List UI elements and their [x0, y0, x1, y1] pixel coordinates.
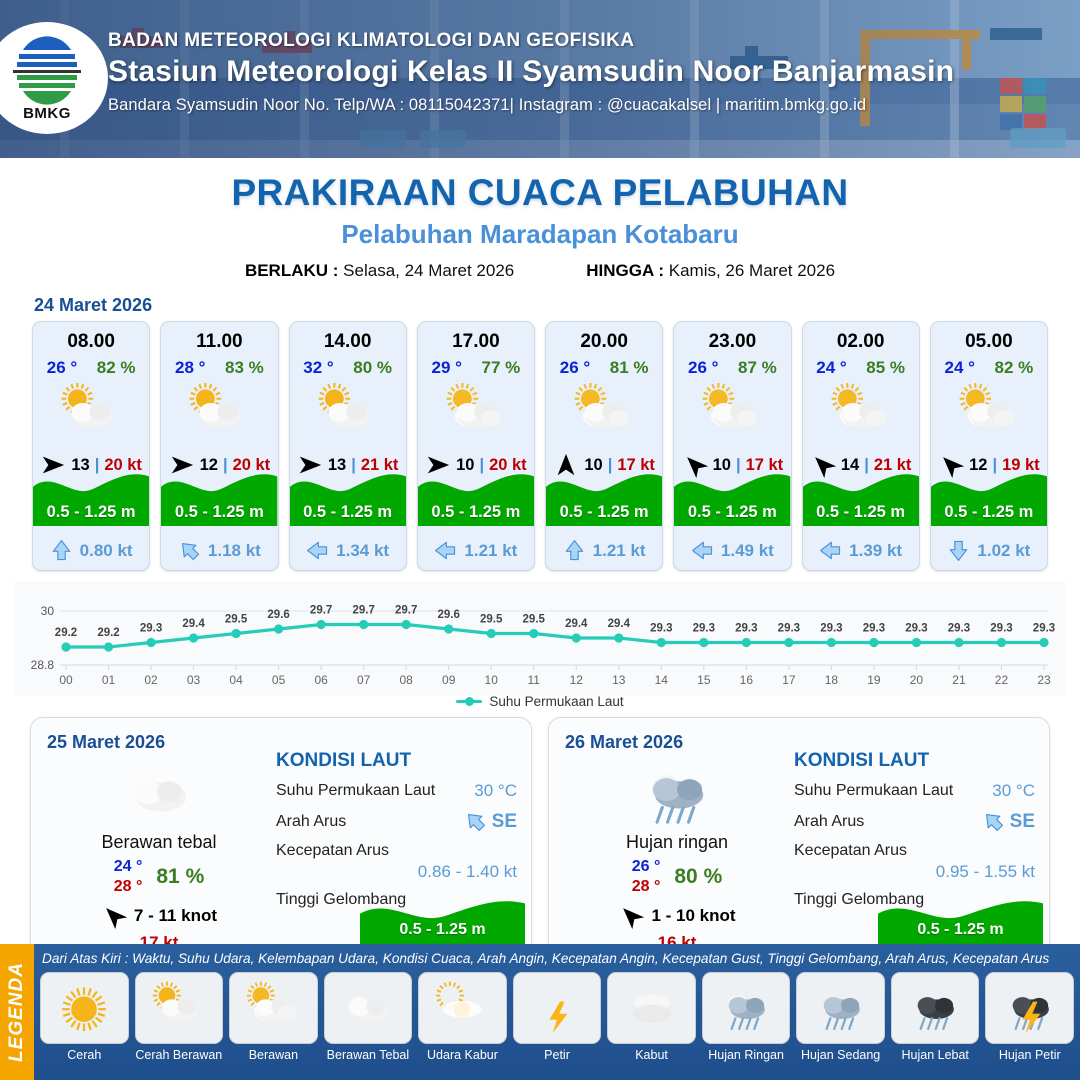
card-temperature: 26 °	[688, 358, 718, 378]
hourly-date-label: 24 Maret 2026	[34, 295, 1080, 316]
page-title: PRAKIRAAN CUACA PELABUHAN	[0, 172, 1080, 214]
sst-point-label: 29.3	[778, 623, 800, 635]
x-tick-label: 00	[59, 673, 73, 687]
x-tick-label: 05	[272, 673, 286, 687]
berawan-icon	[826, 380, 896, 447]
sst-point	[827, 638, 836, 647]
card-temperature: 24 °	[816, 358, 846, 378]
card-humidity: 81 %	[610, 358, 649, 378]
x-tick-label: 17	[782, 673, 796, 687]
card-wave-height: 0.5 - 1.25 m	[931, 503, 1047, 522]
cerah-berawan-icon	[184, 380, 254, 447]
legend-item-label: Udara Kabur	[427, 1048, 498, 1062]
legend-item-label: Cerah	[67, 1048, 101, 1062]
card-weather-icon	[161, 382, 277, 444]
hujan-ringan-icon	[715, 979, 777, 1038]
sst-chart-svg: 3028.829.229.229.329.429.529.629.729.729…	[14, 581, 1066, 691]
legend-item-label: Hujan Sedang	[801, 1048, 880, 1062]
current-direction-arrow-SE-icon	[178, 539, 201, 562]
current-direction-arrow-N-icon	[947, 539, 970, 562]
card-current: 1.34 kt	[290, 539, 406, 562]
card-current-speed: 1.49 kt	[721, 541, 774, 561]
panel-current-dir-label: Arah Arus	[794, 813, 864, 831]
panel-sea-title: KONDISI LAUT	[276, 750, 517, 772]
petir-icon	[526, 979, 588, 1038]
card-temp-humidity: 26 ° 82 %	[33, 358, 149, 378]
x-tick-label: 20	[910, 673, 924, 687]
current-direction-arrow-E-icon	[306, 539, 329, 562]
valid-from: BERLAKU : Selasa, 24 Maret 2026	[245, 261, 514, 281]
hujan-lebat-icon	[904, 979, 966, 1038]
x-tick-label: 09	[442, 673, 456, 687]
berawan-tebal-icon	[116, 753, 202, 835]
x-tick-label: 14	[655, 673, 669, 687]
card-time: 05.00	[931, 331, 1047, 353]
legend-item-icon-box	[985, 972, 1074, 1044]
x-tick-label: 13	[612, 673, 626, 687]
legend-item: Udara Kabur	[418, 972, 507, 1062]
card-time: 23.00	[674, 331, 790, 353]
sst-point-label: 29.5	[523, 614, 546, 626]
sst-point-label: 29.3	[735, 623, 757, 635]
card-humidity: 85 %	[866, 358, 905, 378]
card-humidity: 82 %	[97, 358, 136, 378]
x-tick-label: 18	[825, 673, 839, 687]
panel-condition: Hujan ringan	[567, 832, 787, 853]
chart-legend-label: Suhu Permukaan Laut	[489, 694, 623, 709]
legend-item-label: Hujan Lebat	[901, 1048, 968, 1062]
legend-item-icon-box	[40, 972, 129, 1044]
sst-point	[402, 620, 411, 629]
validity-row: BERLAKU : Selasa, 24 Maret 2026 HINGGA :…	[0, 261, 1080, 281]
card-weather-icon	[290, 382, 406, 444]
sst-point-label: 29.3	[650, 623, 672, 635]
valid-until-value: Kamis, 26 Maret 2026	[669, 261, 835, 280]
legend-item: Berawan Tebal	[324, 972, 413, 1062]
card-current: 1.21 kt	[546, 539, 662, 562]
card-temp-humidity: 26 ° 81 %	[546, 358, 662, 378]
panel-condition: Berawan tebal	[49, 832, 269, 853]
x-tick-label: 04	[229, 673, 243, 687]
legend-item: Hujan Sedang	[796, 972, 885, 1062]
card-current: 1.49 kt	[674, 539, 790, 562]
panel-current-speed-label: Kecepatan Arus	[276, 842, 389, 860]
legend-item-icon-box	[418, 972, 507, 1044]
card-wave-height: 0.5 - 1.25 m	[161, 503, 277, 522]
agency-name: BADAN METEOROLOGI KLIMATOLOGI DAN GEOFIS…	[108, 30, 954, 52]
cerah-icon	[53, 979, 115, 1038]
panel-temp-min: 24 °	[114, 857, 143, 877]
x-tick-label: 15	[697, 673, 711, 687]
sst-point	[572, 633, 581, 642]
cerah-berawan-icon	[313, 380, 383, 447]
card-wave-height: 0.5 - 1.25 m	[546, 503, 662, 522]
x-tick-label: 08	[399, 673, 413, 687]
current-direction-arrow-E-icon	[434, 539, 457, 562]
page-subtitle: Pelabuhan Maradapan Kotabaru	[0, 219, 1080, 250]
sst-point-label: 29.5	[225, 614, 248, 626]
card-current-speed: 0.80 kt	[80, 541, 133, 561]
card-current-speed: 1.18 kt	[208, 541, 261, 561]
card-temp-humidity: 29 ° 77 %	[418, 358, 534, 378]
panel-wind: 7 - 11 knot	[49, 903, 269, 929]
sst-point-label: 29.2	[55, 627, 77, 639]
panel-current-dir-value: SE	[464, 810, 517, 833]
sst-point-label: 29.3	[990, 623, 1012, 635]
panel-temp-max: 28 °	[632, 877, 661, 897]
legend-note: Dari Atas Kiri : Waktu, Suhu Udara, Kele…	[42, 951, 1072, 966]
legend-item: Hujan Petir	[985, 972, 1074, 1062]
daily-panel[interactable]: 25 Maret 2026 Berawan tebal 24 ° 28 ° 81…	[30, 717, 532, 962]
x-tick-label: 12	[570, 673, 584, 687]
sst-point	[997, 638, 1006, 647]
berawan-icon	[242, 979, 304, 1038]
card-temperature: 26 °	[560, 358, 590, 378]
valid-until-label: HINGGA :	[586, 261, 664, 280]
sst-point	[869, 638, 878, 647]
sst-point-label: 29.3	[693, 623, 715, 635]
legend-item-icon-box	[229, 972, 318, 1044]
current-direction-arrow-S-icon	[563, 539, 586, 562]
legend-item-label: Hujan Petir	[999, 1048, 1061, 1062]
card-temp-humidity: 28 ° 83 %	[161, 358, 277, 378]
legend-items: Cerah Cerah Berawan Berawan Berawan Teba…	[40, 972, 1074, 1062]
card-temp-humidity: 32 ° 80 %	[290, 358, 406, 378]
panel-wave-value: 0.5 - 1.25 m	[360, 921, 525, 939]
panel-sst-row: Suhu Permukaan Laut 30 °C	[276, 781, 517, 801]
card-temp-humidity: 24 ° 85 %	[803, 358, 919, 378]
panel-weather-icon	[49, 758, 269, 830]
card-weather-icon	[546, 382, 662, 444]
legend-item: Hujan Ringan	[702, 972, 791, 1062]
berawan-icon	[954, 380, 1024, 447]
hourly-forecast-row: 08.00 26 ° 82 % 13 | 20 kt 0.5 - 1.25 m …	[0, 321, 1080, 571]
legend-item: Kabut	[607, 972, 696, 1062]
sst-point-label: 29.7	[310, 605, 332, 617]
panel-temp-max: 28 °	[114, 877, 143, 897]
valid-from-label: BERLAKU :	[245, 261, 339, 280]
hourly-card[interactable]: 23.00 26 ° 87 % 10 | 17 kt 0.5 - 1.25 m …	[673, 321, 791, 571]
card-time: 20.00	[546, 331, 662, 353]
legend-item-label: Kabut	[635, 1048, 668, 1062]
daily-forecast-row: 25 Maret 2026 Berawan tebal 24 ° 28 ° 81…	[0, 709, 1080, 962]
card-humidity: 80 %	[353, 358, 392, 378]
legend-item: Hujan Lebat	[891, 972, 980, 1062]
sst-point	[614, 633, 623, 642]
panel-sst-row: Suhu Permukaan Laut 30 °C	[794, 781, 1035, 801]
berawan-icon	[569, 380, 639, 447]
panel-left: Hujan ringan 26 ° 28 ° 80 % 1 - 10 knot …	[567, 758, 787, 953]
x-tick-label: 01	[102, 673, 116, 687]
card-current: 1.02 kt	[931, 539, 1047, 562]
current-direction-arrow-S-icon	[50, 539, 73, 562]
panel-current-dir-label: Arah Arus	[276, 813, 346, 831]
legend-item-label: Berawan Tebal	[327, 1048, 409, 1062]
sst-point	[657, 638, 666, 647]
card-humidity: 82 %	[994, 358, 1033, 378]
legend-item-icon-box	[702, 972, 791, 1044]
card-temperature: 29 °	[432, 358, 462, 378]
kabut-icon	[621, 979, 683, 1038]
x-tick-label: 19	[867, 673, 881, 687]
legend-bar: LEGENDA Dari Atas Kiri : Waktu, Suhu Uda…	[0, 944, 1080, 1080]
legend-item: Berawan	[229, 972, 318, 1062]
sst-point-label: 29.2	[97, 627, 119, 639]
cerah-berawan-icon	[56, 380, 126, 447]
card-wave-height: 0.5 - 1.25 m	[290, 503, 406, 522]
x-tick-label: 11	[528, 673, 541, 687]
panel-current-speed-row: Kecepatan Arus	[276, 842, 517, 860]
panel-current-dir-text: SE	[1010, 811, 1035, 833]
hourly-card[interactable]: 17.00 29 ° 77 % 10 | 20 kt 0.5 - 1.25 m …	[417, 321, 535, 571]
infographic-root: BMKG BADAN METEOROLOGI KLIMATOLOGI DAN G…	[0, 0, 1080, 1080]
legend-item: Petir	[513, 972, 602, 1062]
panel-wind-range: 7 - 11 knot	[134, 906, 217, 926]
card-humidity: 87 %	[738, 358, 777, 378]
header-text-block: BADAN METEOROLOGI KLIMATOLOGI DAN GEOFIS…	[108, 30, 954, 115]
card-humidity: 83 %	[225, 358, 264, 378]
panel-temperatures: 26 ° 28 ° 80 %	[567, 857, 787, 897]
card-humidity: 77 %	[481, 358, 520, 378]
sst-point-label: 29.6	[267, 609, 289, 621]
legend-item: Cerah Berawan	[135, 972, 224, 1062]
panel-sea-conditions: KONDISI LAUT Suhu Permukaan Laut 30 °C A…	[794, 750, 1035, 909]
current-direction-arrow-SE-icon	[982, 810, 1005, 833]
hourly-card[interactable]: 08.00 26 ° 82 % 13 | 20 kt 0.5 - 1.25 m …	[32, 321, 150, 571]
hujan-sedang-icon	[810, 979, 872, 1038]
legend-side-title-text: LEGENDA	[6, 962, 28, 1062]
panel-current-speed-row: Kecepatan Arus	[794, 842, 1035, 860]
panel-wind: 1 - 10 knot	[567, 903, 787, 929]
legend-item-icon-box	[324, 972, 413, 1044]
header-banner: BMKG BADAN METEOROLOGI KLIMATOLOGI DAN G…	[0, 0, 1080, 158]
legend-item-icon-box	[796, 972, 885, 1044]
cerah-berawan-icon	[148, 979, 210, 1038]
card-wave-height: 0.5 - 1.25 m	[803, 503, 919, 522]
sst-point-label: 29.4	[565, 618, 588, 630]
x-tick-label: 02	[144, 673, 158, 687]
panel-humidity: 80 %	[674, 865, 722, 889]
sst-point-label: 29.4	[608, 618, 631, 630]
card-wave-height: 0.5 - 1.25 m	[418, 503, 534, 522]
legend-item: Cerah	[40, 972, 129, 1062]
bmkg-logo-text: BMKG	[7, 105, 87, 122]
sst-chart: 3028.829.229.229.329.429.529.629.729.729…	[14, 581, 1066, 696]
sst-point-label: 29.3	[820, 623, 842, 635]
panel-humidity: 81 %	[156, 865, 204, 889]
panel-sst-value: 30 °C	[474, 781, 517, 801]
sst-point-label: 29.3	[1033, 623, 1055, 635]
x-tick-label: 21	[952, 673, 966, 687]
valid-until: HINGGA : Kamis, 26 Maret 2026	[586, 261, 835, 281]
berawan-icon	[441, 380, 511, 447]
panel-sst-label: Suhu Permukaan Laut	[276, 782, 435, 800]
sst-point	[189, 633, 198, 642]
sst-point-label: 29.7	[395, 605, 417, 617]
card-temperature: 32 °	[303, 358, 333, 378]
sst-point	[104, 642, 113, 651]
card-current: 1.21 kt	[418, 539, 534, 562]
panel-wave-value: 0.5 - 1.25 m	[878, 921, 1043, 939]
card-weather-icon	[931, 382, 1047, 444]
card-temp-humidity: 26 ° 87 %	[674, 358, 790, 378]
hourly-card[interactable]: 11.00 28 ° 83 % 12 | 20 kt 0.5 - 1.25 m …	[160, 321, 278, 571]
sst-point	[359, 620, 368, 629]
sst-point-label: 29.7	[352, 605, 374, 617]
valid-from-value: Selasa, 24 Maret 2026	[343, 261, 514, 280]
panel-current-speed-value: 0.95 - 1.55 kt	[794, 862, 1035, 882]
card-current-speed: 1.02 kt	[977, 541, 1030, 561]
hourly-card[interactable]: 02.00 24 ° 85 % 14 | 21 kt 0.5 - 1.25 m …	[802, 321, 920, 571]
chart-legend: Suhu Permukaan Laut	[0, 694, 1080, 709]
current-direction-arrow-SE-icon	[464, 810, 487, 833]
y-tick-min: 28.8	[31, 658, 55, 672]
sst-point	[487, 629, 496, 638]
card-current: 0.80 kt	[33, 539, 149, 562]
sst-point	[1039, 638, 1048, 647]
card-time: 17.00	[418, 331, 534, 353]
bmkg-emblem-icon	[7, 34, 87, 106]
card-wave-height: 0.5 - 1.25 m	[33, 503, 149, 522]
wind-direction-arrow-NW-icon	[618, 903, 644, 929]
panel-left: Berawan tebal 24 ° 28 ° 81 % 7 - 11 knot…	[49, 758, 269, 953]
legend-item-label: Petir	[544, 1048, 570, 1062]
card-current: 1.18 kt	[161, 539, 277, 562]
sst-point	[912, 638, 921, 647]
current-direction-arrow-E-icon	[691, 539, 714, 562]
udara-kabur-icon	[431, 979, 493, 1038]
card-current-speed: 1.34 kt	[336, 541, 389, 561]
hourly-card[interactable]: 20.00 26 ° 81 % 10 | 17 kt 0.5 - 1.25 m …	[545, 321, 663, 571]
x-tick-label: 23	[1037, 673, 1051, 687]
sst-point-label: 29.3	[948, 623, 970, 635]
card-time: 08.00	[33, 331, 149, 353]
card-weather-icon	[674, 382, 790, 444]
panel-sea-title: KONDISI LAUT	[794, 750, 1035, 772]
panel-temperatures: 24 ° 28 ° 81 %	[49, 857, 269, 897]
sst-point	[231, 629, 240, 638]
x-tick-label: 22	[995, 673, 1009, 687]
card-temperature: 26 °	[47, 358, 77, 378]
hujan-petir-icon	[999, 979, 1061, 1038]
card-time: 14.00	[290, 331, 406, 353]
sst-point-label: 29.4	[182, 618, 205, 630]
legend-item-label: Berawan	[249, 1048, 298, 1062]
sst-point-label: 29.3	[863, 623, 885, 635]
x-tick-label: 10	[485, 673, 499, 687]
card-weather-icon	[803, 382, 919, 444]
card-wave-height: 0.5 - 1.25 m	[674, 503, 790, 522]
berawan-tebal-icon	[337, 979, 399, 1038]
hourly-card[interactable]: 14.00 32 ° 80 % 13 | 21 kt 0.5 - 1.25 m …	[289, 321, 407, 571]
panel-weather-icon	[567, 758, 787, 830]
panel-current-dir-row: Arah Arus SE	[794, 810, 1035, 833]
panel-current-dir-text: SE	[492, 811, 517, 833]
card-temperature: 28 °	[175, 358, 205, 378]
berawan-icon	[697, 380, 767, 447]
sst-point	[317, 620, 326, 629]
card-current-speed: 1.39 kt	[849, 541, 902, 561]
card-current: 1.39 kt	[803, 539, 919, 562]
legend-item-label: Cerah Berawan	[135, 1048, 222, 1062]
card-current-speed: 1.21 kt	[464, 541, 517, 561]
sst-point-label: 29.3	[905, 623, 927, 635]
sst-point-label: 29.6	[438, 609, 460, 621]
panel-wind-range: 1 - 10 knot	[651, 906, 735, 926]
sst-point-label: 29.5	[480, 614, 503, 626]
x-tick-label: 07	[357, 673, 371, 687]
card-weather-icon	[418, 382, 534, 444]
legend-item-icon-box	[891, 972, 980, 1044]
hujan-ringan-icon	[634, 753, 720, 835]
x-tick-label: 16	[740, 673, 754, 687]
legend-item-icon-box	[607, 972, 696, 1044]
sst-point	[529, 629, 538, 638]
legend-item-icon-box	[513, 972, 602, 1044]
panel-sst-label: Suhu Permukaan Laut	[794, 782, 953, 800]
chart-legend-marker-icon	[456, 700, 482, 703]
x-tick-label: 03	[187, 673, 201, 687]
sst-point	[274, 624, 283, 633]
sst-point	[61, 642, 70, 651]
x-tick-label: 06	[314, 673, 328, 687]
legend-item-icon-box	[135, 972, 224, 1044]
wind-direction-arrow-NW-icon	[101, 903, 127, 929]
daily-panel[interactable]: 26 Maret 2026 Hujan ringan 26 ° 28 ° 80 …	[548, 717, 1050, 962]
station-name: Stasiun Meteorologi Kelas II Syamsudin N…	[108, 55, 954, 89]
card-weather-icon	[33, 382, 149, 444]
panel-current-dir-row: Arah Arus SE	[276, 810, 517, 833]
card-current-speed: 1.21 kt	[593, 541, 646, 561]
current-direction-arrow-E-icon	[819, 539, 842, 562]
hourly-card[interactable]: 05.00 24 ° 82 % 12 | 19 kt 0.5 - 1.25 m …	[930, 321, 1048, 571]
card-time: 11.00	[161, 331, 277, 353]
sst-point-label: 29.3	[140, 623, 162, 635]
panel-current-dir-value: SE	[982, 810, 1035, 833]
contact-info: Bandara Syamsudin Noor No. Telp/WA : 081…	[108, 96, 954, 115]
panel-current-speed-value: 0.86 - 1.40 kt	[276, 862, 517, 882]
sst-point	[699, 638, 708, 647]
legend-item-label: Hujan Ringan	[708, 1048, 784, 1062]
panel-sea-conditions: KONDISI LAUT Suhu Permukaan Laut 30 °C A…	[276, 750, 517, 909]
sst-point	[954, 638, 963, 647]
card-temperature: 24 °	[945, 358, 975, 378]
panel-sst-value: 30 °C	[992, 781, 1035, 801]
card-time: 02.00	[803, 331, 919, 353]
sst-point	[444, 624, 453, 633]
legend-side-title: LEGENDA	[0, 944, 34, 1080]
sst-point	[742, 638, 751, 647]
y-tick-max: 30	[41, 604, 55, 618]
panel-current-speed-label: Kecepatan Arus	[794, 842, 907, 860]
panel-temp-min: 26 °	[632, 857, 661, 877]
sst-point	[146, 638, 155, 647]
card-temp-humidity: 24 ° 82 %	[931, 358, 1047, 378]
sst-point	[784, 638, 793, 647]
